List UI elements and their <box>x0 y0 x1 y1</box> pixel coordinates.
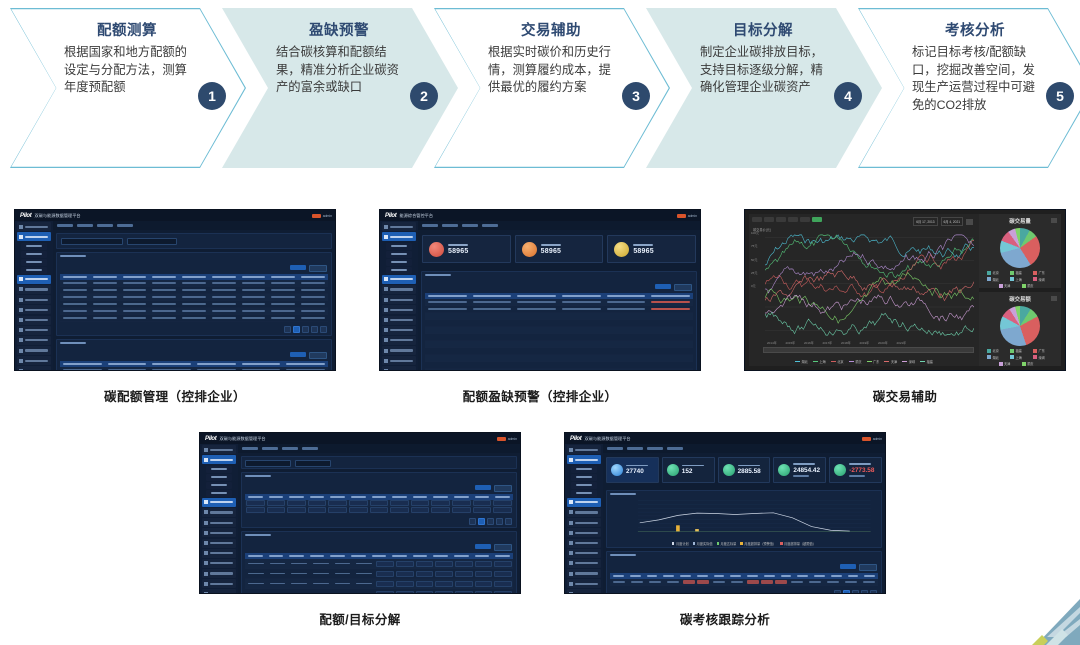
table-row[interactable] <box>425 320 693 327</box>
range-chip-5[interactable] <box>812 217 822 222</box>
table-row[interactable] <box>425 313 693 320</box>
primary-button[interactable] <box>840 564 856 569</box>
sidebar-item-11[interactable] <box>382 326 416 335</box>
notification-badge-icon[interactable] <box>312 214 321 218</box>
app-header-actions[interactable]: admin <box>677 214 697 218</box>
sidebar-item-label <box>575 542 598 544</box>
breadcrumb-item[interactable] <box>117 224 133 226</box>
range-chip-bar[interactable]: 6月 17, 20136月 4, 2021 <box>749 214 979 229</box>
sidebar-subitem[interactable] <box>386 259 412 266</box>
sidebar-item-11[interactable] <box>567 549 601 558</box>
table-row[interactable] <box>425 327 693 334</box>
sidebar-item-7[interactable] <box>202 508 236 517</box>
breadcrumb-item[interactable] <box>647 447 663 449</box>
chart-legend-item[interactable]: 月度实际值 <box>693 541 713 546</box>
sidebar-item-label <box>210 572 233 574</box>
sidebar-item-13[interactable] <box>382 346 416 355</box>
screenshot-2[interactable]: Pilot能源综合管控平台admin589655896558965 <box>379 209 701 371</box>
user-name: admin <box>688 214 697 218</box>
date-from-field[interactable]: 6月 17, 2013 <box>913 217 937 226</box>
legend-label: 广东 <box>1039 270 1045 275</box>
range-chip-3[interactable] <box>788 217 798 222</box>
panel-actions[interactable] <box>57 263 331 272</box>
process-step-content: 盈缺预警结合碳核算和配额结果，精准分析企业碳资产的富余或缺口 <box>276 22 402 162</box>
screenshot-4[interactable]: Pilot双碳与能源数据管理平台admin <box>199 432 521 594</box>
table-row[interactable] <box>425 369 693 371</box>
chart-legend-item[interactable]: 福建 <box>920 359 933 364</box>
menu-icon <box>19 287 23 291</box>
pie-menu-icon[interactable] <box>1051 296 1057 301</box>
sidebar-item-10[interactable] <box>17 316 51 325</box>
pie-legend-item[interactable]: 天津 <box>999 283 1019 288</box>
price-chart-panel: 6月 17, 20136月 4, 2021碳交易价(元)0元25元50元75元1… <box>749 214 979 366</box>
range-chip-0[interactable] <box>752 217 762 222</box>
app-sidebar[interactable] <box>15 221 53 370</box>
legend-label: 月度计划 <box>676 541 689 546</box>
process-step-title: 配额测算 <box>64 22 190 40</box>
chart-legend-item[interactable]: 天津 <box>884 359 897 364</box>
menu-icon <box>19 318 23 322</box>
chart-legend-item[interactable]: 月度计划 <box>672 541 689 546</box>
screenshot-4-caption: 配额/目标分解 <box>199 609 521 628</box>
range-chip-4[interactable] <box>800 217 810 222</box>
sidebar-item-label <box>390 236 413 238</box>
price-line-chart <box>765 230 974 340</box>
table-row[interactable] <box>245 500 513 507</box>
user-name: admin <box>508 437 517 441</box>
poster-root: 配额测算根据国家和地方配额的设定与分配方法，测算年度预配额1盈缺预警结合碳核算和… <box>0 0 1080 645</box>
table-row[interactable] <box>245 569 513 579</box>
panel-title <box>245 534 513 540</box>
app-logo: Pilot <box>205 436 217 442</box>
menu-icon <box>19 308 23 312</box>
pie-legend-item[interactable]: 湖北 <box>987 277 1007 282</box>
sidebar-subitem[interactable] <box>571 482 597 489</box>
sidebar-item-label <box>575 593 598 594</box>
kpi-label <box>793 463 815 465</box>
sidebar-item-7[interactable] <box>382 285 416 294</box>
breadcrumb-item[interactable] <box>282 447 298 449</box>
breadcrumb-item[interactable] <box>57 224 73 226</box>
kpi-card-0[interactable]: 58965 <box>422 235 511 263</box>
pie-panel-title: 碳交易额 <box>979 292 1061 303</box>
kpi-card-2[interactable]: 58965 <box>607 235 696 263</box>
table-row[interactable] <box>425 348 693 355</box>
sidebar-subitem[interactable] <box>21 259 47 266</box>
breadcrumb-item[interactable] <box>442 224 458 226</box>
kpi-card-0[interactable]: 27740 <box>606 457 659 483</box>
pagination[interactable] <box>607 588 881 594</box>
sidebar-item-label <box>390 309 413 311</box>
sidebar-item-15[interactable] <box>202 589 236 594</box>
x-tick-label: 2016年 <box>804 341 814 345</box>
breadcrumb-item[interactable] <box>262 447 278 449</box>
pie-chart <box>1000 306 1040 346</box>
table-row[interactable] <box>610 579 878 586</box>
page-button[interactable] <box>852 590 859 594</box>
page-button[interactable] <box>505 518 512 525</box>
data-panel <box>241 472 517 528</box>
chart-menu-icon[interactable] <box>966 219 973 225</box>
breadcrumb[interactable] <box>238 444 520 453</box>
data-table <box>245 494 513 514</box>
breadcrumb-item[interactable] <box>627 447 643 449</box>
process-step-content: 目标分解制定企业碳排放目标，支持目标逐级分解，精确化管理企业碳资产 <box>700 22 826 162</box>
legend-label: 湖北 <box>802 359 808 364</box>
sidebar-item-1[interactable] <box>382 232 416 241</box>
kpi-value: 58965 <box>633 248 653 255</box>
sidebar-subitem[interactable] <box>21 267 47 274</box>
sidebar-subitem-label <box>211 476 227 478</box>
date-range[interactable]: 6月 17, 20136月 4, 2021 <box>913 217 976 226</box>
kpi-text: 24854.42 <box>793 463 820 477</box>
pie-legend-item[interactable]: 北京 <box>987 270 1007 275</box>
sidebar-item-1[interactable] <box>17 232 51 241</box>
sidebar-item-9[interactable] <box>17 305 51 314</box>
panel-actions[interactable] <box>607 562 881 571</box>
table-row[interactable] <box>60 287 328 294</box>
legend-swatch <box>987 271 991 275</box>
secondary-button[interactable] <box>859 564 877 571</box>
menu-icon <box>569 582 573 586</box>
sidebar-item-9[interactable] <box>382 305 416 314</box>
kpi-value: 152 <box>682 468 704 475</box>
primary-button[interactable] <box>655 284 671 289</box>
kpi-value: 58965 <box>448 248 468 255</box>
page-button[interactable] <box>834 590 841 594</box>
panel-actions[interactable] <box>242 483 516 492</box>
chart-legend-item[interactable]: 月度达标量 <box>717 541 737 546</box>
page-button[interactable] <box>870 590 877 594</box>
breadcrumb-item[interactable] <box>97 224 113 226</box>
pie-legend-item[interactable]: 上海 <box>1010 355 1030 360</box>
sidebar-item-9[interactable] <box>202 528 236 537</box>
secondary-button[interactable] <box>494 485 512 492</box>
process-flow: 配额测算根据国家和地方配额的设定与分配方法，测算年度预配额1盈缺预警结合碳核算和… <box>0 0 1080 182</box>
chart-scrollbar[interactable] <box>763 347 974 353</box>
menu-icon <box>384 235 388 239</box>
screenshot-2-caption: 配额盈缺预警（控排企业） <box>379 386 701 405</box>
kpi-value: 2885.58 <box>738 468 761 475</box>
data-table <box>60 274 328 322</box>
trend-chart <box>611 497 883 537</box>
sidebar-item-12[interactable] <box>17 336 51 345</box>
legend-label: 月度实际值 <box>697 541 713 546</box>
sidebar-subitem-label <box>26 253 42 255</box>
menu-icon <box>384 308 388 312</box>
y-tick-label: 50元 <box>751 258 757 262</box>
chart-legend-item[interactable]: 月度超排量（预警值） <box>740 541 776 546</box>
chart-legend-item[interactable]: 重庆 <box>849 359 862 364</box>
page-button[interactable] <box>487 518 494 525</box>
menu-icon <box>384 277 388 281</box>
menu-icon <box>204 551 208 555</box>
primary-button[interactable] <box>475 544 491 549</box>
sidebar-subitem[interactable] <box>206 466 232 473</box>
primary-button[interactable] <box>290 352 306 357</box>
pie-legend-item[interactable]: 福建 <box>1010 348 1030 353</box>
chart-legend-item[interactable]: 深圳 <box>902 359 915 364</box>
sidebar-item-14[interactable] <box>567 579 601 588</box>
page-button[interactable] <box>843 590 850 594</box>
table-row[interactable] <box>245 559 513 569</box>
pie-legend-item[interactable]: 北京 <box>987 348 1007 353</box>
page-button[interactable] <box>293 326 300 333</box>
app-sidebar[interactable] <box>565 444 603 593</box>
kpi-card-1[interactable]: 152 <box>662 457 715 483</box>
breadcrumb-item[interactable] <box>242 447 258 449</box>
table-row[interactable] <box>245 589 513 594</box>
app-header-actions[interactable]: admin <box>862 437 882 441</box>
sidebar-item-13[interactable] <box>567 569 601 578</box>
process-step-content: 配额测算根据国家和地方配额的设定与分配方法，测算年度预配额 <box>64 22 190 162</box>
sidebar-item-12[interactable] <box>567 559 601 568</box>
screenshot-1[interactable]: Pilot双碳与能源数据管理平台admin <box>14 209 336 371</box>
pie-legend-item[interactable]: 深圳 <box>1033 355 1053 360</box>
breadcrumb-item[interactable] <box>482 224 498 226</box>
page-button[interactable] <box>478 518 485 525</box>
screenshot-3[interactable]: 6月 17, 20136月 4, 2021碳交易价(元)0元25元50元75元1… <box>744 209 1066 371</box>
breadcrumb-item[interactable] <box>462 224 478 226</box>
date-to-field[interactable]: 6月 4, 2021 <box>941 217 963 226</box>
table-row[interactable] <box>60 308 328 315</box>
breadcrumb-item[interactable] <box>607 447 623 449</box>
sidebar-item-6[interactable] <box>17 275 51 284</box>
panel-title <box>245 475 513 481</box>
process-step-title: 盈缺预警 <box>276 22 402 40</box>
pie-legend-item[interactable]: 重庆 <box>1022 361 1042 366</box>
breadcrumb-item[interactable] <box>77 224 93 226</box>
breadcrumb[interactable] <box>418 221 700 230</box>
panel-actions[interactable] <box>57 350 331 359</box>
sidebar-item-label <box>390 299 413 301</box>
sidebar-subitem[interactable] <box>571 474 597 481</box>
sidebar-item-6[interactable] <box>202 498 236 507</box>
sidebar-item-14[interactable] <box>382 356 416 365</box>
kpi-coin-icon <box>522 242 537 257</box>
kpi-card-4[interactable]: -2773.58 <box>829 457 882 483</box>
panel-actions[interactable] <box>242 542 516 551</box>
sidebar-item-11[interactable] <box>202 549 236 558</box>
sidebar-item-13[interactable] <box>17 346 51 355</box>
page-button[interactable] <box>311 326 318 333</box>
sidebar-item-6[interactable] <box>382 275 416 284</box>
sidebar-item-7[interactable] <box>567 508 601 517</box>
legend-label: 福建 <box>1016 348 1022 353</box>
sidebar-item-label <box>390 329 413 331</box>
sidebar-item-6[interactable] <box>567 498 601 507</box>
legend-swatch <box>987 355 991 359</box>
sidebar-item-9[interactable] <box>567 528 601 537</box>
x-tick-label: 2021年 <box>897 341 907 345</box>
corner-decoration <box>1016 593 1080 645</box>
table-row[interactable] <box>245 507 513 514</box>
pagination[interactable] <box>242 516 516 527</box>
sidebar-item-15[interactable] <box>567 589 601 594</box>
range-chip-2[interactable] <box>776 217 786 222</box>
sidebar-item-7[interactable] <box>17 285 51 294</box>
chart-legend-item[interactable]: 广东 <box>867 359 880 364</box>
sidebar-subitem[interactable] <box>386 267 412 274</box>
legend-swatch <box>1033 349 1037 353</box>
breadcrumb-item[interactable] <box>302 447 318 449</box>
data-panel <box>241 531 517 594</box>
breadcrumb-item[interactable] <box>422 224 438 226</box>
chart-legend-item[interactable]: 北京 <box>831 359 844 364</box>
kpi-card-1[interactable]: 58965 <box>515 235 604 263</box>
notification-badge-icon[interactable] <box>862 437 871 441</box>
table-row[interactable] <box>425 341 693 348</box>
sidebar-subitem-label <box>211 468 227 470</box>
legend-swatch <box>1010 277 1014 281</box>
notification-badge-icon[interactable] <box>497 437 506 441</box>
breadcrumb[interactable] <box>603 444 885 453</box>
table-row[interactable] <box>425 334 693 341</box>
sidebar-subitem-label <box>391 245 407 247</box>
legend-swatch <box>1010 355 1014 359</box>
filter-select[interactable] <box>245 460 291 467</box>
pie-legend-item[interactable]: 广东 <box>1033 270 1053 275</box>
table-row[interactable] <box>425 306 693 313</box>
screenshot-5[interactable]: Pilot双碳与能源数据管理平台admin277401522885.582485… <box>564 432 886 594</box>
sidebar-subitem[interactable] <box>206 482 232 489</box>
app-header-actions[interactable]: admin <box>497 437 517 441</box>
app-sidebar[interactable] <box>200 444 238 593</box>
sidebar-item-12[interactable] <box>382 336 416 345</box>
page-button[interactable] <box>469 518 476 525</box>
menu-icon <box>19 225 23 229</box>
kpi-card-3[interactable]: 24854.42 <box>773 457 826 483</box>
filter-input[interactable] <box>61 238 123 245</box>
secondary-button[interactable] <box>309 265 327 272</box>
sidebar-subitem[interactable] <box>386 251 412 258</box>
secondary-button[interactable] <box>309 352 327 359</box>
sidebar-subitem[interactable] <box>571 490 597 497</box>
sidebar-item-0[interactable] <box>382 222 416 231</box>
breadcrumb[interactable] <box>53 221 335 230</box>
table-row[interactable] <box>60 315 328 322</box>
menu-icon <box>569 551 573 555</box>
sidebar-item-14[interactable] <box>17 356 51 365</box>
app-header-actions[interactable]: admin <box>312 214 332 218</box>
sidebar-item-8[interactable] <box>202 518 236 527</box>
price-plot <box>765 230 974 340</box>
sidebar-subitem[interactable] <box>571 466 597 473</box>
panel-actions[interactable] <box>422 282 696 291</box>
pie-legend-item[interactable]: 广东 <box>1033 348 1053 353</box>
sidebar-item-15[interactable] <box>382 366 416 371</box>
sidebar-item-10[interactable] <box>567 539 601 548</box>
sidebar-item-0[interactable] <box>17 222 51 231</box>
sidebar-item-15[interactable] <box>17 366 51 371</box>
notification-badge-icon[interactable] <box>677 214 686 218</box>
table-row[interactable] <box>425 362 693 369</box>
sidebar-item-label <box>390 226 413 228</box>
legend-label: 月度达标量 <box>720 541 736 546</box>
pie-legend-item[interactable]: 深圳 <box>1033 277 1053 282</box>
sidebar-item-11[interactable] <box>17 326 51 335</box>
pie-legend-item[interactable]: 上海 <box>1010 277 1030 282</box>
sidebar-subitem[interactable] <box>21 251 47 258</box>
legend-label: 广东 <box>873 359 879 364</box>
sidebar-item-14[interactable] <box>202 579 236 588</box>
pie-legend-item[interactable]: 重庆 <box>1022 283 1042 288</box>
page-button[interactable] <box>320 326 327 333</box>
chart-legend-item[interactable]: 月度超排量（超限值） <box>780 541 816 546</box>
range-chip-1[interactable] <box>764 217 774 222</box>
table-row[interactable] <box>60 301 328 308</box>
chart-legend-item[interactable]: 湖北 <box>795 359 808 364</box>
sidebar-item-1[interactable] <box>202 455 236 464</box>
sidebar-subitem[interactable] <box>206 490 232 497</box>
primary-button[interactable] <box>290 265 306 270</box>
menu-icon <box>384 369 388 371</box>
sidebar-item-8[interactable] <box>567 518 601 527</box>
sidebar-item-0[interactable] <box>567 445 601 454</box>
page-button[interactable] <box>302 326 309 333</box>
sidebar-item-label <box>25 370 48 371</box>
legend-swatch <box>1022 284 1026 288</box>
primary-button[interactable] <box>475 485 491 490</box>
content-area: 277401522885.5824854.42-2773.58月度计划月度实际值… <box>603 444 885 593</box>
secondary-button[interactable] <box>494 544 512 551</box>
legend-swatch <box>795 361 800 363</box>
table-row[interactable] <box>60 280 328 287</box>
sidebar-item-10[interactable] <box>382 316 416 325</box>
app-sidebar[interactable] <box>380 221 418 370</box>
sidebar-item-label <box>210 552 233 554</box>
page-button[interactable] <box>861 590 868 594</box>
breadcrumb-item[interactable] <box>667 447 683 449</box>
table-row[interactable] <box>425 355 693 362</box>
secondary-button[interactable] <box>674 284 692 291</box>
sidebar-item-12[interactable] <box>202 559 236 568</box>
menu-icon <box>19 369 23 371</box>
sidebar-subitem[interactable] <box>21 243 47 250</box>
menu-icon <box>204 510 208 514</box>
menu-icon <box>19 277 23 281</box>
sidebar-item-1[interactable] <box>567 455 601 464</box>
kpi-subtext <box>849 475 865 477</box>
pie-legend-item[interactable]: 天津 <box>999 361 1019 366</box>
pie-menu-icon[interactable] <box>1051 218 1057 223</box>
sidebar-item-8[interactable] <box>382 295 416 304</box>
filter-select[interactable] <box>295 460 331 467</box>
filter-select[interactable] <box>127 238 177 245</box>
sidebar-subitem[interactable] <box>386 243 412 250</box>
process-step-description: 根据国家和地方配额的设定与分配方法，测算年度预配额 <box>64 44 190 97</box>
table-row[interactable] <box>60 367 328 371</box>
pagination[interactable] <box>57 324 331 335</box>
pie-legend-item[interactable]: 湖北 <box>987 355 1007 360</box>
page-button[interactable] <box>496 518 503 525</box>
page-button[interactable] <box>284 326 291 333</box>
kpi-card-2[interactable]: 2885.58 <box>718 457 771 483</box>
legend-label: 北京 <box>993 348 999 353</box>
table-row[interactable] <box>425 299 693 306</box>
chart-legend-item[interactable]: 上海 <box>813 359 826 364</box>
pie-legend-item[interactable]: 福建 <box>1010 270 1030 275</box>
sidebar-item-10[interactable] <box>202 539 236 548</box>
sidebar-subitem[interactable] <box>206 474 232 481</box>
table-row[interactable] <box>245 579 513 589</box>
sidebar-item-0[interactable] <box>202 445 236 454</box>
sidebar-item-8[interactable] <box>17 295 51 304</box>
menu-icon <box>569 592 573 594</box>
table-row[interactable] <box>60 294 328 301</box>
x-tick-label: 2014年 <box>767 341 777 345</box>
sidebar-item-13[interactable] <box>202 569 236 578</box>
